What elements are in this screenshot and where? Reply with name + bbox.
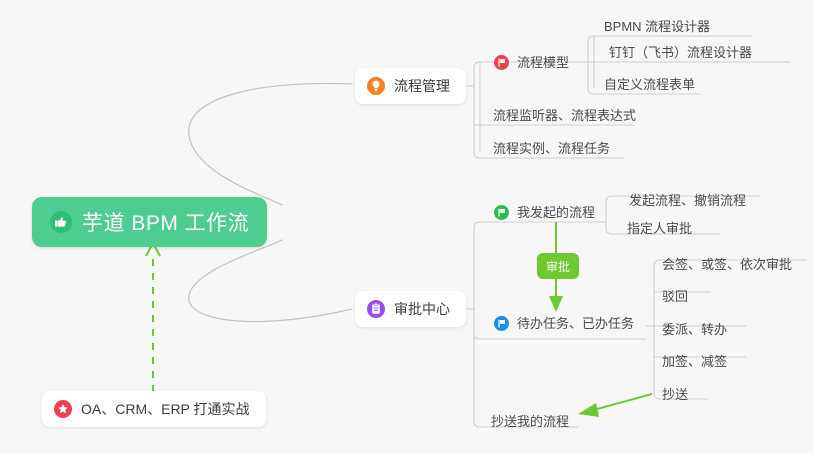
node-start-cancel[interactable]: 发起流程、撤销流程	[625, 184, 752, 210]
mindmap-canvas: 芋道 BPM 工作流 流程管理 流程模型 BPMN 流程设计器 钉钉（飞书）流程	[0, 0, 814, 453]
clipboard-icon	[367, 300, 385, 318]
flag-icon	[494, 316, 509, 331]
node-bpmn-designer[interactable]: BPMN 流程设计器	[600, 10, 716, 36]
node-todo-done[interactable]: 待办任务、已办任务	[492, 310, 640, 336]
node-cc[interactable]: 抄送	[658, 378, 694, 404]
link-root-to-approval-center	[189, 240, 352, 322]
node-label: 流程模型	[517, 56, 569, 69]
flag-icon	[494, 55, 509, 70]
node-label: 流程监听器、流程表达式	[493, 109, 636, 122]
node-add-remove-sign[interactable]: 加签、减签	[658, 345, 733, 371]
node-label: 我发起的流程	[517, 206, 595, 219]
bottom-node-integration-practice[interactable]: OA、CRM、ERP 打通实战	[42, 391, 266, 427]
node-label: 委派、转办	[662, 323, 727, 336]
link-root-to-process-management	[189, 83, 352, 205]
node-label: 钉钉（飞书）流程设计器	[609, 46, 752, 59]
node-cc-to-me[interactable]: 抄送我的流程	[487, 405, 575, 431]
node-label: 待办任务、已办任务	[517, 317, 634, 330]
cc-flow-arrow	[578, 394, 652, 417]
node-label: 抄送我的流程	[491, 415, 569, 428]
node-countersign[interactable]: 会签、或签、依次审批	[658, 248, 798, 274]
node-dingtalk-feishu-designer[interactable]: 钉钉（飞书）流程设计器	[605, 36, 758, 62]
node-reject[interactable]: 驳回	[658, 280, 694, 306]
approval-badge: 审批	[537, 253, 579, 279]
node-listener-expression[interactable]: 流程监听器、流程表达式	[489, 99, 642, 125]
node-label: 加签、减签	[662, 355, 727, 368]
node-process-model[interactable]: 流程模型	[492, 49, 575, 75]
node-instance-task[interactable]: 流程实例、流程任务	[489, 132, 616, 158]
branch-label: 流程管理	[394, 76, 450, 96]
practice-arrow	[146, 243, 160, 392]
badge-label: 审批	[546, 258, 570, 275]
root-node[interactable]: 芋道 BPM 工作流	[32, 197, 267, 247]
node-label: 指定人审批	[627, 222, 692, 235]
thumbs-up-icon	[50, 211, 72, 233]
node-delegate-transfer[interactable]: 委派、转办	[658, 313, 733, 339]
branch-approval-center[interactable]: 审批中心	[355, 291, 466, 327]
branch-label: 审批中心	[394, 299, 450, 319]
root-label: 芋道 BPM 工作流	[82, 207, 249, 237]
link-ac-to-initiated	[474, 222, 598, 309]
node-label: 驳回	[662, 290, 688, 303]
node-assignee-approval[interactable]: 指定人审批	[623, 212, 698, 238]
node-label: 会签、或签、依次审批	[662, 258, 792, 271]
lightbulb-icon	[367, 77, 385, 95]
bottom-node-label: OA、CRM、ERP 打通实战	[81, 399, 250, 419]
flag-icon	[494, 205, 509, 220]
node-label: 抄送	[662, 388, 688, 401]
branch-process-management[interactable]: 流程管理	[355, 68, 466, 104]
node-custom-process-form[interactable]: 自定义流程表单	[600, 68, 701, 94]
node-my-initiated[interactable]: 我发起的流程	[492, 199, 601, 225]
node-label: 流程实例、流程任务	[493, 142, 610, 155]
node-label: BPMN 流程设计器	[604, 20, 710, 33]
star-icon	[54, 400, 72, 418]
node-label: 发起流程、撤销流程	[629, 194, 746, 207]
node-label: 自定义流程表单	[604, 78, 695, 91]
